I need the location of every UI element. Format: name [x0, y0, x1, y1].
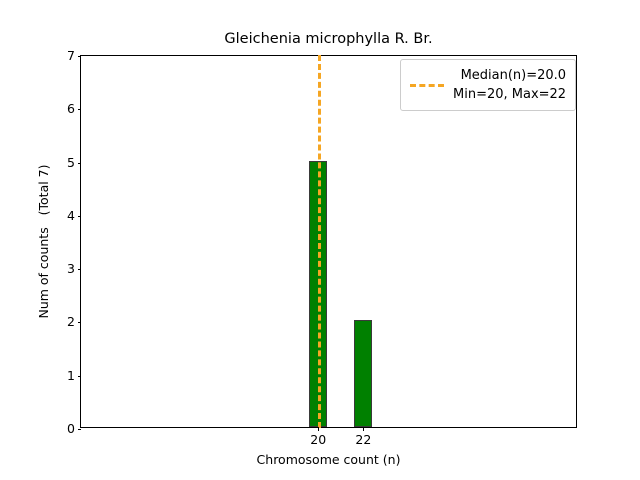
y-tick-mark-4: [78, 216, 82, 217]
bar-22: [354, 320, 372, 427]
y-tick-mark-7: [78, 56, 82, 57]
y-tick-label-3: 3: [67, 263, 75, 276]
y-tick-label-1: 1: [67, 369, 75, 382]
legend-text-group: Median(n)=20.0 Min=20, Max=22: [453, 66, 566, 104]
x-tick-mark-20: [318, 427, 319, 431]
legend-range-label: Min=20, Max=22: [453, 85, 566, 104]
y-tick-mark-2: [78, 322, 82, 323]
y-axis-label: Num of counts (Total 7): [36, 55, 52, 428]
y-tick-mark-5: [78, 163, 82, 164]
chart-legend: Median(n)=20.0 Min=20, Max=22: [400, 59, 576, 111]
chart-figure: Gleichenia microphylla R. Br. 0123456720…: [0, 0, 640, 480]
median-line: [318, 55, 321, 428]
y-tick-mark-0: [78, 429, 82, 430]
y-tick-label-4: 4: [67, 210, 75, 223]
y-tick-label-7: 7: [67, 50, 75, 63]
y-tick-label-0: 0: [67, 423, 75, 436]
y-tick-mark-6: [78, 109, 82, 110]
y-tick-mark-3: [78, 269, 82, 270]
y-tick-mark-1: [78, 376, 82, 377]
x-axis-label: Chromosome count (n): [80, 452, 577, 467]
x-tick-mark-22: [363, 427, 364, 431]
y-tick-label-5: 5: [67, 156, 75, 169]
legend-median-label: Median(n)=20.0: [461, 66, 567, 85]
y-tick-label-6: 6: [67, 103, 75, 116]
plot-inner: 012345672022: [81, 56, 576, 427]
x-tick-label-20: 20: [310, 433, 326, 447]
median-line-swatch-icon: [410, 84, 444, 87]
x-tick-label-22: 22: [355, 433, 371, 447]
legend-row: Median(n)=20.0 Min=20, Max=22: [410, 66, 566, 104]
y-tick-label-2: 2: [67, 316, 75, 329]
chart-title: Gleichenia microphylla R. Br.: [80, 30, 577, 48]
